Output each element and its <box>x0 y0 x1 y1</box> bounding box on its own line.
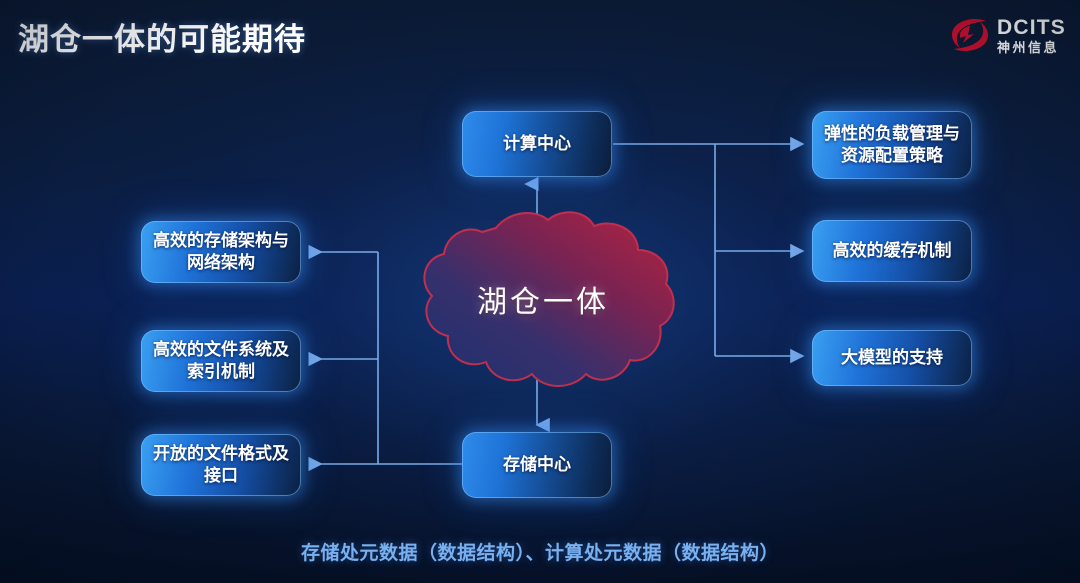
node-storage-architecture[interactable]: 高效的存储架构与网络架构 <box>141 221 301 283</box>
node-label: 高效的存储架构与网络架构 <box>151 230 291 274</box>
brand-logo: DCITS 神州信息 <box>950 12 1066 58</box>
node-label: 弹性的负载管理与资源配置策略 <box>822 123 962 167</box>
footer-caption: 存储处元数据（数据结构）、计算处元数据（数据结构） <box>0 538 1080 565</box>
node-compute-center[interactable]: 计算中心 <box>462 111 612 177</box>
logo-text-en: DCITS <box>997 17 1066 38</box>
cloud-shape: 湖仓一体 <box>404 206 682 392</box>
node-label: 大模型的支持 <box>841 347 943 369</box>
node-label: 存储中心 <box>503 454 571 476</box>
node-label: 高效的缓存机制 <box>833 240 952 262</box>
node-storage-center[interactable]: 存储中心 <box>462 432 612 498</box>
node-label: 计算中心 <box>503 133 571 155</box>
node-open-file-format[interactable]: 开放的文件格式及接口 <box>141 434 301 496</box>
slide-canvas: 湖仓一体的可能期待 DCITS 神州信息 <box>0 0 1080 583</box>
node-label: 开放的文件格式及接口 <box>151 443 291 487</box>
logo-text-cn: 神州信息 <box>997 41 1066 54</box>
page-title: 湖仓一体的可能期待 <box>18 14 306 59</box>
node-elastic-workload[interactable]: 弹性的负载管理与资源配置策略 <box>812 111 972 179</box>
dcits-swirl-icon <box>950 17 990 53</box>
node-cache-mechanism[interactable]: 高效的缓存机制 <box>812 220 972 282</box>
cloud-label: 湖仓一体 <box>404 206 682 392</box>
node-file-system-index[interactable]: 高效的文件系统及索引机制 <box>141 330 301 392</box>
node-llm-support[interactable]: 大模型的支持 <box>812 330 972 386</box>
node-label: 高效的文件系统及索引机制 <box>151 339 291 383</box>
